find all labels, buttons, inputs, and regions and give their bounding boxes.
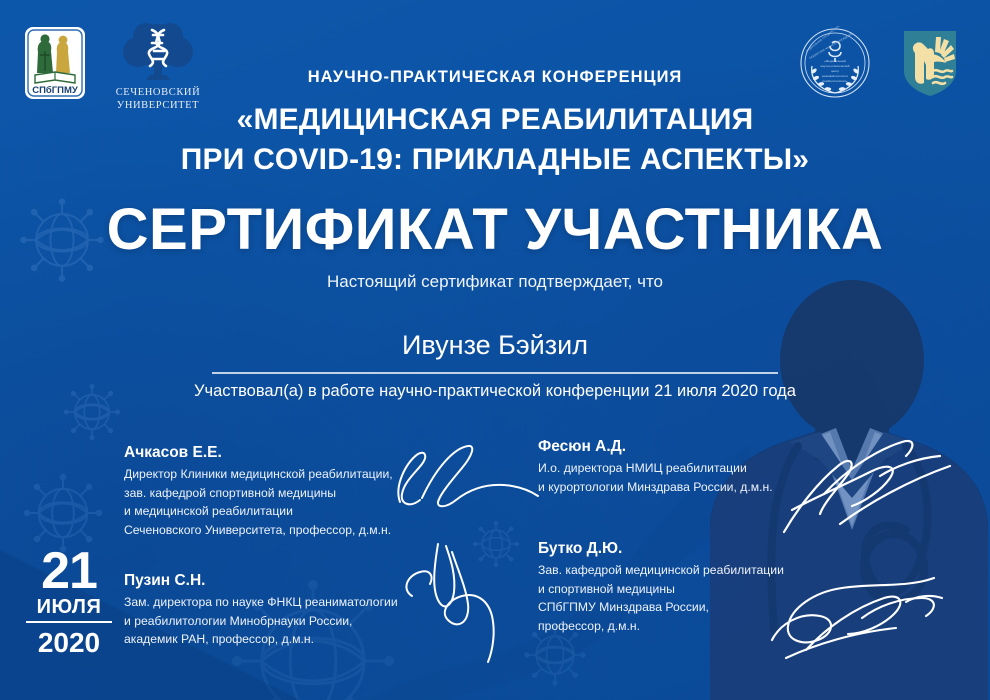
date-year: 2020	[26, 626, 112, 660]
signatory-title-line: академик РАН, профессор, д.м.н.	[124, 630, 398, 649]
conference-kicker: НАУЧНО-ПРАКТИЧЕСКАЯ КОНФЕРЕНЦИЯ	[0, 68, 990, 87]
signatory-titles: Директор Клиники медицинской реабилитаци…	[124, 465, 393, 539]
signature-block-fesyun: Фесюн А.Д. И.о. директора НМИЦ реабилита…	[538, 438, 773, 496]
signatory-titles: Зам. директора по науке ФНКЦ реаниматоло…	[124, 593, 398, 649]
signatory-title-line: и спортивной медицины	[538, 580, 784, 599]
signatory-titles: И.о. директора НМИЦ реабилитации и курор…	[538, 459, 773, 496]
signatory-title-line: и курортологии Минздрава России, д.м.н.	[538, 478, 773, 497]
signatory-name: Пузин С.Н.	[124, 572, 398, 590]
signature-block-puzin: Пузин С.Н. Зам. директора по науке ФНКЦ …	[124, 572, 398, 649]
certificate-page: СПбГПМУ	[0, 0, 990, 700]
certificate-participation-line: Участвовал(а) в работе научно-практическ…	[0, 382, 990, 401]
date-badge: 21 июля 2020	[26, 548, 112, 659]
certificate-holder-name: Ивунзе Бэйзил	[0, 330, 990, 361]
signatory-title-line: Зам. директора по науке ФНКЦ реаниматоло…	[124, 593, 398, 612]
holder-name-underline	[212, 372, 778, 374]
signatory-title-line: и медицинской реабилитации	[124, 502, 393, 521]
certificate-title: СЕРТИФИКАТ УЧАСТНИКА	[0, 196, 990, 263]
signatory-name: Бутко Д.Ю.	[538, 540, 784, 558]
signatory-titles: Зав. кафедрой медицинской реабилитации и…	[538, 561, 784, 635]
signatory-title-line: зав. кафедрой спортивной медицины	[124, 484, 393, 503]
signatory-title-line: и реабилитологии Минобрнауки России,	[124, 612, 398, 631]
sechenov-caption-line1: Сеченовский	[108, 86, 208, 99]
signature-block-butko: Бутко Д.Ю. Зав. кафедрой медицинской реа…	[538, 540, 784, 635]
conference-title: «МЕДИЦИНСКАЯ РЕАБИЛИТАЦИЯ ПРИ COVID-19: …	[0, 100, 990, 180]
signatory-title-line: СПбГПМУ Минздрава России,	[538, 598, 784, 617]
svg-text:«Федеральный: «Федеральный	[824, 59, 846, 63]
conference-title-line2: ПРИ COVID-19: ПРИКЛАДНЫЕ АСПЕКТЫ»	[0, 140, 990, 180]
date-month: июля	[26, 596, 112, 623]
fnkc-logo: «Федеральный научно-клинический центр ре…	[798, 26, 872, 105]
conference-title-line1: «МЕДИЦИНСКАЯ РЕАБИЛИТАЦИЯ	[0, 100, 990, 140]
signatory-title-line: Сеченовского Университета, профессор, д.…	[124, 521, 393, 540]
nmic-shield-logo	[900, 27, 960, 104]
signatory-title-line: профессор, д.м.н.	[538, 617, 784, 636]
signatory-title-line: И.о. директора НМИЦ реабилитации	[538, 459, 773, 478]
signature-block-achkasov: Ачкасов Е.Е. Директор Клиники медицинско…	[124, 444, 393, 539]
certificate-confirm-line: Настоящий сертификат подтверждает, что	[0, 272, 990, 292]
signatory-title-line: Директор Клиники медицинской реабилитаци…	[124, 465, 393, 484]
signatory-name: Фесюн А.Д.	[538, 438, 773, 456]
spbgpmu-logo: СПбГПМУ	[25, 27, 85, 104]
date-day: 21	[26, 548, 112, 596]
signatory-title-line: Зав. кафедрой медицинской реабилитации	[538, 561, 784, 580]
signatory-name: Ачкасов Е.Е.	[124, 444, 393, 462]
